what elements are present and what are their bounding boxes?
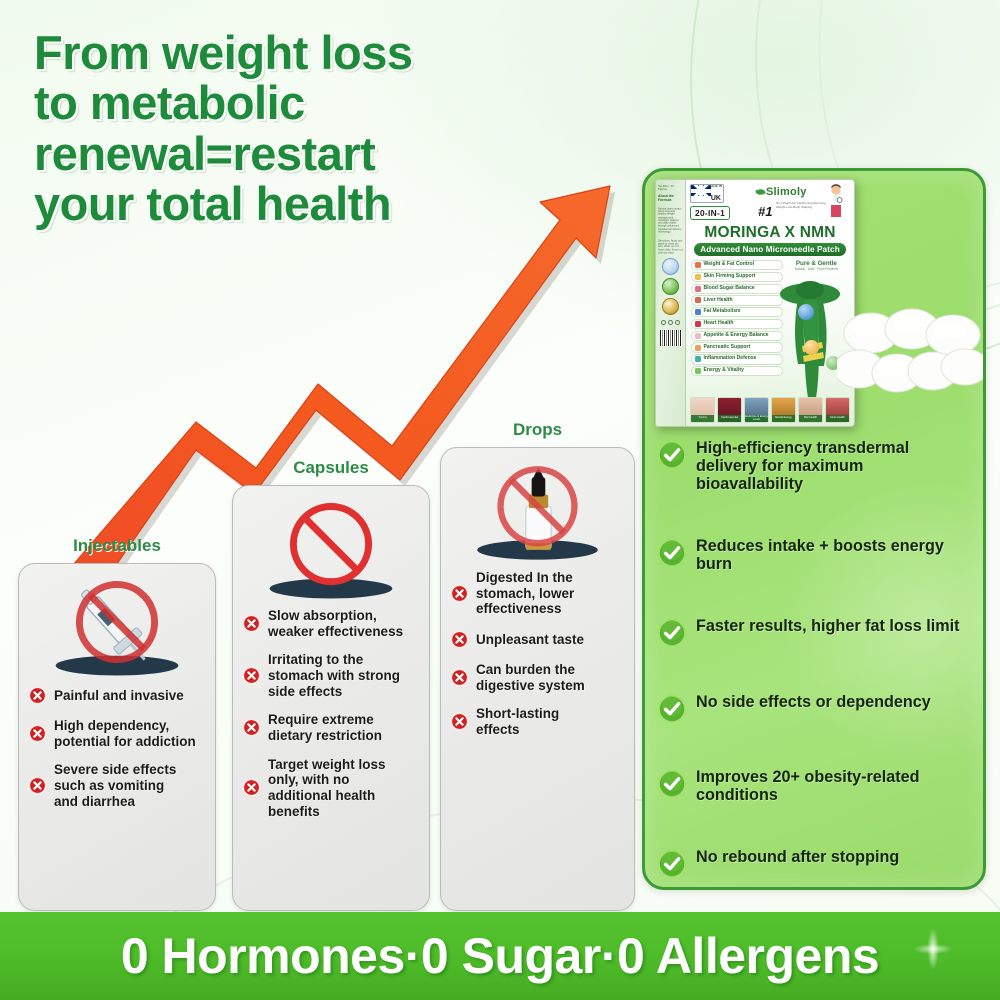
no-dropper-bottle-icon bbox=[450, 458, 625, 566]
card-title-drops: Drops bbox=[440, 420, 635, 440]
feature-item: Appetite & Energy Balance bbox=[691, 331, 783, 341]
check-icon bbox=[657, 694, 687, 724]
thumbnail-caption: Endocrine & Energy Levels bbox=[745, 415, 768, 422]
x-icon bbox=[450, 630, 469, 649]
feature-icon bbox=[695, 274, 701, 280]
list-item: Improves 20+ obesity-related conditions bbox=[657, 768, 969, 804]
list-item-text: Can burden thedigestive system bbox=[476, 662, 585, 693]
list-item-text: High-efficiency transdermal delivery for… bbox=[696, 439, 969, 493]
ingredient-bubble-curcumin-icon bbox=[804, 340, 819, 355]
card-title-capsules: Capsules bbox=[232, 458, 430, 478]
list-item: Severe side effectssuch as vomitingand d… bbox=[28, 762, 206, 809]
headline-line-2: to metabolic bbox=[34, 78, 594, 128]
list-item: Short-lastingeffects bbox=[450, 706, 625, 737]
thumbnail-caption: Skin Health bbox=[799, 415, 822, 422]
list-item: Can burden thedigestive system bbox=[450, 662, 625, 693]
rank-badge: #1 bbox=[758, 204, 772, 219]
side-panel-directions-text: Directions: Apply one patch to clean dry… bbox=[658, 239, 683, 254]
list-item-text: Improves 20+ obesity-related conditions bbox=[696, 768, 969, 804]
feature-label: Skin Firming Support bbox=[704, 274, 756, 280]
list-item-text: High dependency,potential for addiction bbox=[54, 718, 196, 749]
feature-item: Skin Firming Support bbox=[691, 272, 783, 282]
feature-label: Fat Metabolism bbox=[704, 309, 741, 315]
list-item: Target weight lossonly, with noadditiona… bbox=[242, 757, 420, 820]
headline-line-4: your total health bbox=[34, 179, 594, 229]
feature-icon bbox=[695, 356, 701, 362]
no-capsule-icon bbox=[242, 496, 420, 604]
card-title-injectables: Injectables bbox=[18, 536, 216, 556]
comparison-column-capsules: Capsules Slow absorption,weaker effectiv… bbox=[232, 458, 430, 911]
x-icon bbox=[450, 584, 469, 603]
list-item: Reduces intake + boosts energy burn bbox=[657, 537, 969, 573]
condition-thumbnails: Tummy Cardiovascular Endocrine & Energy … bbox=[690, 397, 850, 423]
feature-icon bbox=[695, 368, 701, 374]
list-item-text: Faster results, higher fat loss limit bbox=[696, 617, 960, 635]
feature-item: Inflammation Defense bbox=[691, 354, 783, 364]
ingredient-bubble-nmn-icon bbox=[798, 304, 814, 320]
thumbnail: Endocrine & Energy Levels bbox=[744, 397, 769, 423]
feature-label: Inflammation Defense bbox=[704, 356, 757, 362]
list-item: High dependency,potential for addiction bbox=[28, 718, 206, 749]
list-item-text: No rebound after stopping bbox=[696, 848, 899, 866]
count-badge: 20-IN-1 bbox=[690, 206, 730, 220]
feature-item: Blood Sugar Balance bbox=[691, 284, 783, 294]
feature-item: Heart Health bbox=[691, 319, 783, 329]
x-icon bbox=[28, 724, 47, 743]
x-icon bbox=[28, 776, 47, 795]
x-icon bbox=[242, 718, 261, 737]
list-item: Require extremedietary restriction bbox=[242, 712, 420, 743]
nano-microneedle-patches bbox=[837, 299, 986, 407]
list-item-text: Irritating to thestomach with strongside… bbox=[268, 652, 400, 699]
feature-label: Heart Health bbox=[704, 321, 734, 327]
quality-seal-icon bbox=[662, 298, 679, 315]
feature-icon bbox=[695, 309, 701, 315]
feature-icon bbox=[695, 297, 701, 303]
thumbnail: Skin Health bbox=[798, 397, 823, 423]
pure-gentle-label: Pure & Gentle bbox=[795, 260, 838, 267]
thumbnail: Mental Energy bbox=[771, 397, 796, 423]
natural-seal-icon bbox=[662, 278, 679, 295]
barcode-icon bbox=[660, 330, 682, 346]
leaf-icon bbox=[755, 188, 765, 196]
feature-label: Weight & Fat Control bbox=[704, 262, 755, 268]
card-drops: Digested In thestomach, lowereffectivene… bbox=[440, 447, 635, 911]
list-item: Irritating to thestomach with strongside… bbox=[242, 652, 420, 699]
thumbnail: Cardiovascular bbox=[717, 397, 742, 423]
list-item: No rebound after stopping bbox=[657, 848, 969, 879]
sparkle-icon bbox=[910, 918, 956, 980]
list-item-text: Slow absorption,weaker effectiveness bbox=[268, 608, 403, 639]
product-name: MORINGA X NMN bbox=[686, 224, 854, 242]
feature-label: Liver Health bbox=[704, 298, 733, 304]
feature-label: Pancreatic Support bbox=[704, 345, 751, 351]
x-icon bbox=[28, 686, 47, 705]
list-item-text: Target weight lossonly, with noadditiona… bbox=[268, 757, 386, 820]
x-icon bbox=[242, 614, 261, 633]
made-in-uk-flag-icon: MADE IN UK bbox=[690, 184, 724, 203]
iso-seal-icon bbox=[662, 258, 679, 275]
headline: From weight loss to metabolic renewal=re… bbox=[34, 28, 594, 229]
thumbnail-caption: Tummy bbox=[691, 415, 714, 422]
feature-label: Energy & Vitality bbox=[704, 368, 744, 374]
product-subtitle: Advanced Nano Microneedle Patch bbox=[694, 243, 846, 256]
check-icon bbox=[657, 538, 687, 568]
feature-label: Appetite & Energy Balance bbox=[704, 333, 769, 339]
thumbnail-caption: Joints Health bbox=[826, 415, 849, 422]
care-symbols-icons bbox=[661, 320, 680, 325]
card-injectables: Painful and invasive High dependency,pot… bbox=[18, 563, 216, 911]
list-item-text: Severe side effectssuch as vomitingand d… bbox=[54, 762, 176, 809]
feature-list: Weight & Fat Control Skin Firming Suppor… bbox=[691, 260, 783, 376]
side-panel-body-text: Natural plant extract blend supports hea… bbox=[658, 208, 683, 234]
headline-line-1: From weight loss bbox=[34, 28, 594, 78]
feature-icon bbox=[695, 262, 701, 268]
list-item: Slow absorption,weaker effectiveness bbox=[242, 608, 420, 639]
country-label: UK bbox=[711, 195, 721, 202]
feature-icon bbox=[695, 321, 701, 327]
list-item-text: Digested In thestomach, lowereffectivene… bbox=[476, 570, 574, 617]
side-panel-heading: About the Formula bbox=[658, 194, 683, 202]
check-icon bbox=[657, 618, 687, 648]
negatives-list-drops: Digested In thestomach, lowereffectivene… bbox=[450, 570, 625, 738]
feature-icon bbox=[695, 345, 701, 351]
package-side-panel: Net 60ml · 30 Patches About the Formula … bbox=[655, 179, 685, 427]
x-icon bbox=[242, 778, 261, 797]
list-item-text: Require extremedietary restriction bbox=[268, 712, 382, 743]
feature-item: Fat Metabolism bbox=[691, 307, 783, 317]
feature-item: Weight & Fat Control bbox=[691, 260, 783, 270]
brand-name: Slimoly bbox=[756, 186, 807, 198]
list-item: Digested In thestomach, lowereffectivene… bbox=[450, 570, 625, 617]
product-package[interactable]: Net 60ml · 30 Patches About the Formula … bbox=[655, 179, 855, 427]
check-icon bbox=[657, 440, 687, 470]
thumbnail-caption: Cardiovascular bbox=[718, 415, 741, 422]
list-item-text: No side effects or dependency bbox=[696, 693, 931, 711]
feature-icon bbox=[695, 333, 701, 339]
feature-icon bbox=[695, 286, 701, 292]
list-item: High-efficiency transdermal delivery for… bbox=[657, 439, 969, 493]
package-front-face: MADE IN UK 20-IN-1 Slimoly #1 No.1 Patch… bbox=[685, 179, 855, 427]
x-icon bbox=[450, 712, 469, 731]
banner-text: 0 Hormones·0 Sugar·0 Allergens bbox=[121, 927, 879, 985]
comparison-column-drops: Drops bbox=[440, 420, 635, 911]
list-item-text: Reduces intake + boosts energy burn bbox=[696, 537, 969, 573]
brand-label: Slimoly bbox=[766, 186, 807, 198]
side-panel-micro-text: Net 60ml · 30 Patches bbox=[658, 185, 683, 191]
list-item: Unpleasant taste bbox=[450, 630, 625, 649]
list-item: Faster results, higher fat loss limit bbox=[657, 617, 969, 648]
pure-gentle-subtext: Natural · Safe · Plant Powered bbox=[795, 267, 838, 271]
feature-item: Pancreatic Support bbox=[691, 342, 783, 352]
x-icon bbox=[450, 668, 469, 687]
pure-gentle-tagline: Pure & Gentle Natural · Safe · Plant Pow… bbox=[795, 260, 838, 271]
list-item-text: Short-lastingeffects bbox=[476, 706, 559, 737]
bottom-banner: 0 Hormones·0 Sugar·0 Allergens bbox=[0, 912, 1000, 1000]
feature-item: Liver Health bbox=[691, 295, 783, 305]
infographic-poster: From weight loss to metabolic renewal=re… bbox=[0, 0, 1000, 1000]
list-item-text: Painful and invasive bbox=[54, 688, 184, 704]
headline-line-3: renewal=restart bbox=[34, 129, 594, 179]
product-hero: Net 60ml · 30 Patches About the Formula … bbox=[645, 171, 986, 433]
x-icon bbox=[242, 666, 261, 685]
negatives-list-capsules: Slow absorption,weaker effectiveness Irr… bbox=[242, 608, 420, 819]
feature-item: Energy & Vitality bbox=[691, 366, 783, 376]
list-item: Painful and invasive bbox=[28, 686, 206, 705]
doctor-illustration bbox=[822, 183, 850, 217]
no-syringe-icon bbox=[28, 574, 206, 682]
check-icon bbox=[657, 769, 687, 799]
benefits-list: High-efficiency transdermal delivery for… bbox=[645, 435, 983, 879]
card-capsules: Slow absorption,weaker effectiveness Irr… bbox=[232, 485, 430, 911]
thumbnail-caption: Mental Energy bbox=[772, 415, 795, 422]
negatives-list-injectables: Painful and invasive High dependency,pot… bbox=[28, 686, 206, 809]
made-in-label: MADE IN bbox=[709, 185, 722, 188]
comparison-column-injectables: Injectables bbox=[18, 536, 216, 911]
benefits-panel: Net 60ml · 30 Patches About the Formula … bbox=[642, 168, 986, 890]
list-item: No side effects or dependency bbox=[657, 693, 969, 724]
list-item-text: Unpleasant taste bbox=[476, 632, 584, 648]
thumbnail: Tummy bbox=[690, 397, 715, 423]
feature-label: Blood Sugar Balance bbox=[704, 286, 755, 292]
check-icon bbox=[657, 849, 687, 879]
